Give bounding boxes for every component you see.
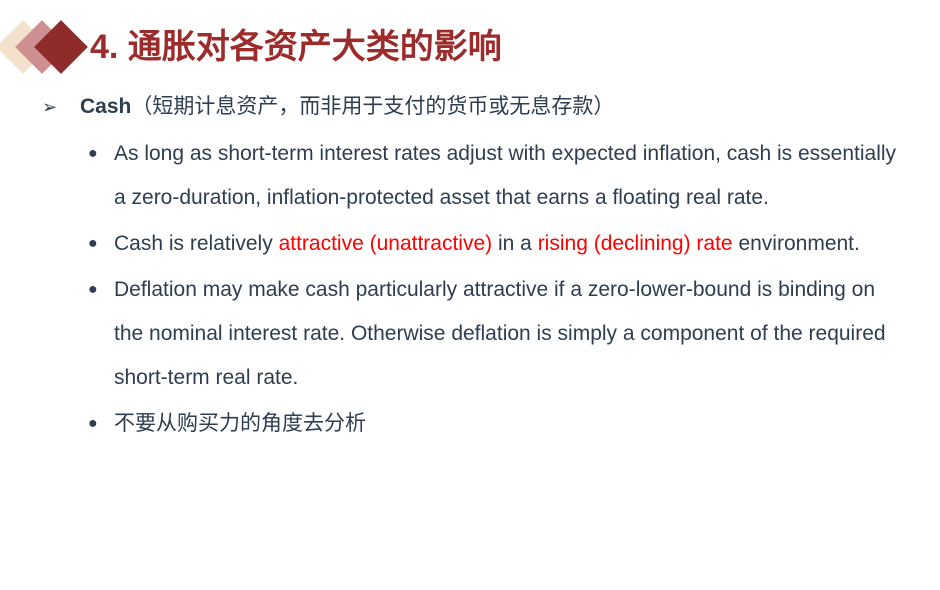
list-item: ● Cash is relatively attractive (unattra… bbox=[88, 222, 940, 266]
arrow-bullet-icon: ➢ bbox=[42, 95, 80, 120]
list-item: ● As long as short-term interest rates a… bbox=[88, 132, 940, 220]
level1-text: Cash（短期计息资产，而非用于支付的货币或无息存款） bbox=[80, 92, 614, 122]
slide-title-row: 4. 通胀对各资产大类的影响 bbox=[0, 14, 502, 80]
level1-item: ➢ Cash（短期计息资产，而非用于支付的货币或无息存款） bbox=[0, 92, 940, 122]
text-segment: 不要从购买力的角度去分析 bbox=[114, 412, 366, 435]
list-item-text: Cash is relatively attractive (unattract… bbox=[114, 222, 860, 266]
slide-body: ➢ Cash（短期计息资产，而非用于支付的货币或无息存款） ● As long … bbox=[0, 92, 940, 448]
page-title: 4. 通胀对各资产大类的影响 bbox=[90, 30, 502, 64]
text-segment: in a bbox=[492, 232, 538, 255]
round-bullet-icon: ● bbox=[88, 268, 114, 312]
text-segment: environment. bbox=[733, 232, 860, 255]
level2-list: ● As long as short-term interest rates a… bbox=[0, 132, 940, 446]
level1-rest-text: （短期计息资产，而非用于支付的货币或无息存款） bbox=[131, 95, 614, 118]
text-segment: Cash is relatively bbox=[114, 232, 279, 255]
highlight-segment: attractive (unattractive) bbox=[279, 232, 493, 255]
list-item: ● 不要从购买力的角度去分析 bbox=[88, 402, 940, 446]
highlight-segment: rising (declining) rate bbox=[538, 232, 733, 255]
diamond-cluster-icon bbox=[6, 17, 88, 77]
round-bullet-icon: ● bbox=[88, 132, 114, 176]
text-segment: As long as short-term interest rates adj… bbox=[114, 142, 896, 209]
round-bullet-icon: ● bbox=[88, 402, 114, 446]
list-item-text: Deflation may make cash particularly att… bbox=[114, 268, 904, 400]
slide-canvas: 4. 通胀对各资产大类的影响 ➢ Cash（短期计息资产，而非用于支付的货币或无… bbox=[0, 0, 940, 590]
text-segment: Deflation may make cash particularly att… bbox=[114, 278, 886, 389]
round-bullet-icon: ● bbox=[88, 222, 114, 266]
list-item: ● Deflation may make cash particularly a… bbox=[88, 268, 940, 400]
level1-lead-label: Cash bbox=[80, 95, 131, 118]
list-item-text: As long as short-term interest rates adj… bbox=[114, 132, 904, 220]
list-item-text: 不要从购买力的角度去分析 bbox=[114, 402, 366, 446]
